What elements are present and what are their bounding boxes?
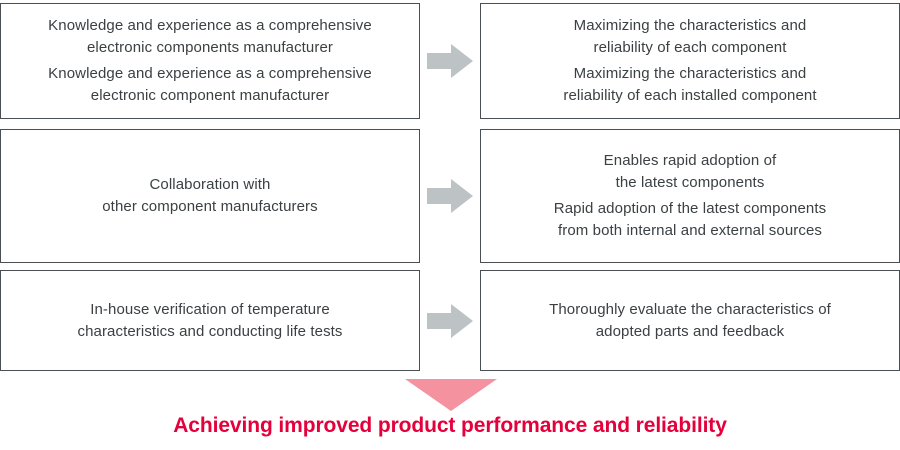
text-line: Knowledge and experience as a comprehens…: [48, 63, 372, 85]
text-line: Rapid adoption of the latest components: [554, 198, 826, 220]
effect-box-3: Thoroughly evaluate the characteristics …: [480, 270, 900, 371]
text-line: reliability of each component: [574, 37, 807, 59]
effect-box-1-paragraph-1: Maximizing the characteristics and relia…: [574, 15, 807, 59]
effect-box-2-paragraph-1: Enables rapid adoption of the latest com…: [604, 150, 777, 194]
arrow-right-icon: [427, 179, 473, 213]
text-line: Enables rapid adoption of: [604, 150, 777, 172]
arrow-right-icon: [427, 304, 473, 338]
text-line: Knowledge and experience as a comprehens…: [48, 15, 372, 37]
text-line: electronic component manufacturer: [48, 85, 372, 107]
arrow-head: [451, 44, 473, 78]
text-line: from both internal and external sources: [554, 220, 826, 242]
arrow-shaft: [427, 53, 453, 69]
arrow-right-icon: [427, 44, 473, 78]
text-line: electronic components manufacturer: [48, 37, 372, 59]
effect-box-2: Enables rapid adoption of the latest com…: [480, 129, 900, 263]
arrow-shaft: [427, 313, 453, 329]
connector-gap-3: [420, 270, 480, 371]
text-line: In-house verification of temperature: [77, 299, 342, 321]
arrow-head: [451, 179, 473, 213]
effect-box-1-paragraph-2: Maximizing the characteristics and relia…: [563, 63, 816, 107]
arrow-down-icon: [405, 379, 497, 411]
arrow-shaft: [427, 188, 453, 204]
text-line: Maximizing the characteristics and: [574, 15, 807, 37]
flow-row-3: In-house verification of temperature cha…: [0, 270, 900, 371]
connector-gap-1: [420, 3, 480, 119]
flow-row-2: Collaboration with other component manuf…: [0, 129, 900, 263]
text-line: the latest components: [604, 172, 777, 194]
text-line: adopted parts and feedback: [549, 321, 831, 343]
text-line: reliability of each installed component: [563, 85, 816, 107]
text-line: other component manufacturers: [102, 196, 318, 218]
connector-gap-2: [420, 129, 480, 263]
effect-box-2-paragraph-2: Rapid adoption of the latest components …: [554, 198, 826, 242]
text-line: Thoroughly evaluate the characteristics …: [549, 299, 831, 321]
cause-box-2-paragraph-1: Collaboration with other component manuf…: [102, 174, 318, 218]
cause-box-1-paragraph-2: Knowledge and experience as a comprehens…: [48, 63, 372, 107]
cause-box-3-paragraph-1: In-house verification of temperature cha…: [77, 299, 342, 343]
text-line: Collaboration with: [102, 174, 318, 196]
effect-box-3-paragraph-1: Thoroughly evaluate the characteristics …: [549, 299, 831, 343]
arrow-head: [451, 304, 473, 338]
flow-row-1: Knowledge and experience as a comprehens…: [0, 3, 900, 119]
text-line: characteristics and conducting life test…: [77, 321, 342, 343]
process-flow-diagram: Knowledge and experience as a comprehens…: [0, 0, 900, 450]
effect-box-1: Maximizing the characteristics and relia…: [480, 3, 900, 119]
cause-box-3: In-house verification of temperature cha…: [0, 270, 420, 371]
conclusion-text: Achieving improved product performance a…: [0, 414, 900, 438]
cause-box-2: Collaboration with other component manuf…: [0, 129, 420, 263]
text-line: Maximizing the characteristics and: [563, 63, 816, 85]
cause-box-1-paragraph-1: Knowledge and experience as a comprehens…: [48, 15, 372, 59]
cause-box-1: Knowledge and experience as a comprehens…: [0, 3, 420, 119]
